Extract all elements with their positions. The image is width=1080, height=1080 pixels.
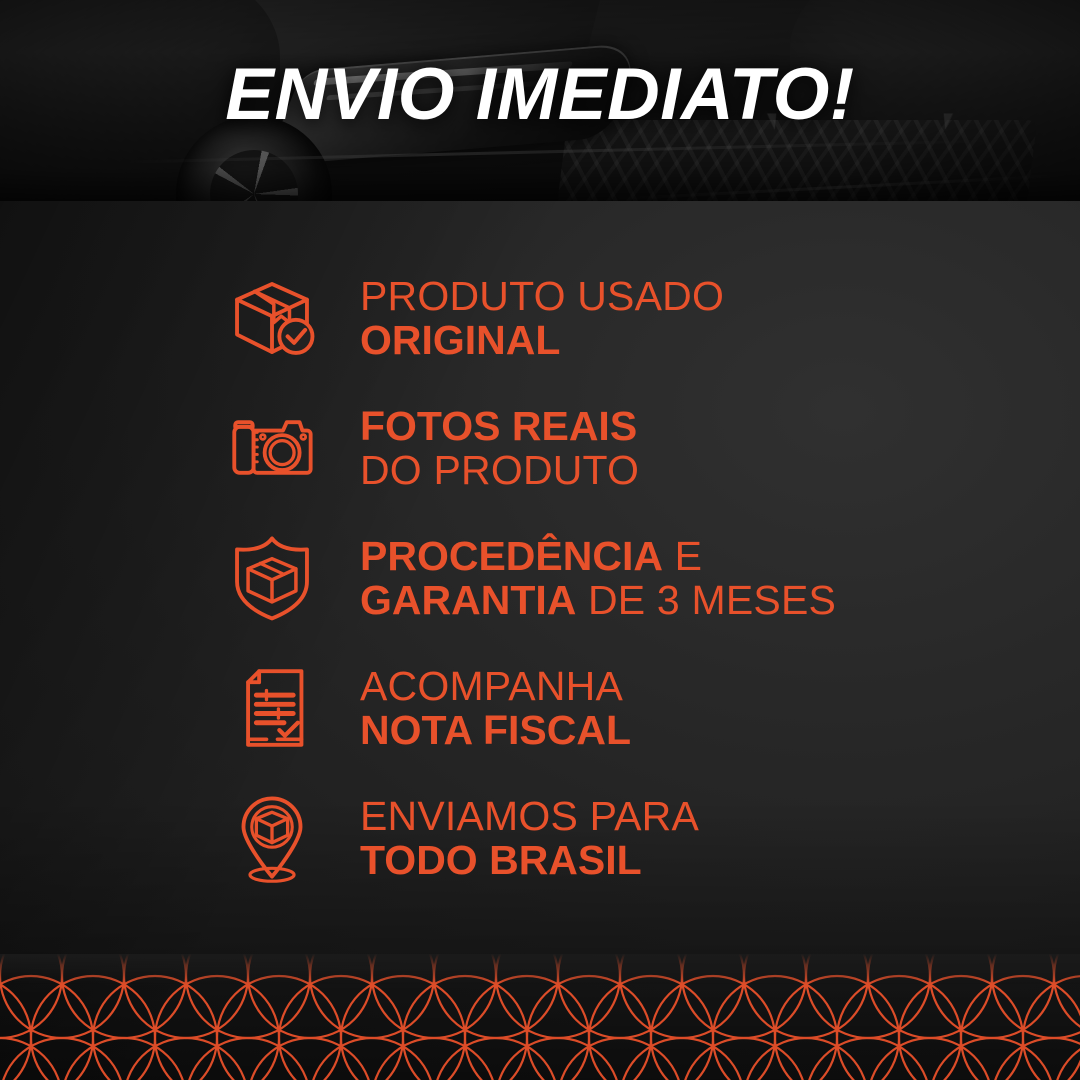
feature-item-todo-brasil: ENVIAMOS PARA TODO BRASIL bbox=[0, 773, 1080, 903]
feature-line-1: FOTOS REAIS bbox=[360, 404, 639, 448]
feature-line-1-text: FOTOS REAIS bbox=[360, 403, 637, 449]
feature-line-2-text: GARANTIA bbox=[360, 577, 576, 623]
invoice-document-icon bbox=[226, 662, 318, 754]
camera-icon bbox=[226, 402, 318, 494]
feature-line-1: PRODUTO USADO bbox=[360, 274, 724, 318]
feature-line-2-text: TODO BRASIL bbox=[360, 837, 642, 883]
feature-line-2: DO PRODUTO bbox=[360, 448, 639, 492]
bottom-ornament-pattern bbox=[0, 954, 1080, 1080]
feature-line-2-suffix: DE 3 MESES bbox=[576, 577, 836, 623]
feature-text: FOTOS REAIS DO PRODUTO bbox=[360, 404, 639, 493]
feature-line-2-text: ORIGINAL bbox=[360, 317, 560, 363]
feature-list: PRODUTO USADO ORIGINAL FOTOS REAIS bbox=[0, 201, 1080, 941]
feature-line-1: ENVIAMOS PARA bbox=[360, 794, 699, 838]
feature-line-2: TODO BRASIL bbox=[360, 838, 699, 882]
feature-line-1: ACOMPANHA bbox=[360, 664, 631, 708]
feature-line-2: NOTA FISCAL bbox=[360, 708, 631, 752]
feature-line-2: GARANTIA DE 3 MESES bbox=[360, 578, 836, 622]
page-title: ENVIO IMEDIATO! bbox=[0, 58, 1080, 131]
feature-item-fotos-reais: FOTOS REAIS DO PRODUTO bbox=[0, 383, 1080, 513]
feature-item-procedencia-garantia: PROCEDÊNCIA E GARANTIA DE 3 MESES bbox=[0, 513, 1080, 643]
feature-line-2-text: DO PRODUTO bbox=[360, 447, 639, 493]
feature-line-1-text: PRODUTO USADO bbox=[360, 273, 724, 319]
feature-item-nota-fiscal: ACOMPANHA NOTA FISCAL bbox=[0, 643, 1080, 773]
feature-line-2-text: NOTA FISCAL bbox=[360, 707, 631, 753]
feature-line-1-text: ENVIAMOS PARA bbox=[360, 793, 699, 839]
feature-line-1-text: ACOMPANHA bbox=[360, 663, 623, 709]
feature-text: PROCEDÊNCIA E GARANTIA DE 3 MESES bbox=[360, 534, 836, 623]
package-check-icon bbox=[226, 272, 318, 364]
map-pin-box-icon bbox=[226, 792, 318, 884]
feature-text: ENVIAMOS PARA TODO BRASIL bbox=[360, 794, 699, 883]
feature-text: PRODUTO USADO ORIGINAL bbox=[360, 274, 724, 363]
promo-banner-page: ENVIO IMEDIATO! PRODUTO USADO ORIGINAL bbox=[0, 0, 1080, 1080]
feature-line-1-suffix: E bbox=[663, 533, 702, 579]
feature-text: ACOMPANHA NOTA FISCAL bbox=[360, 664, 631, 753]
shield-box-icon bbox=[226, 532, 318, 624]
feature-item-produto-original: PRODUTO USADO ORIGINAL bbox=[0, 253, 1080, 383]
hero-banner: ENVIO IMEDIATO! bbox=[0, 0, 1080, 201]
feature-line-1-text: PROCEDÊNCIA bbox=[360, 533, 663, 579]
feature-line-1: PROCEDÊNCIA E bbox=[360, 534, 836, 578]
feature-line-2: ORIGINAL bbox=[360, 318, 724, 362]
